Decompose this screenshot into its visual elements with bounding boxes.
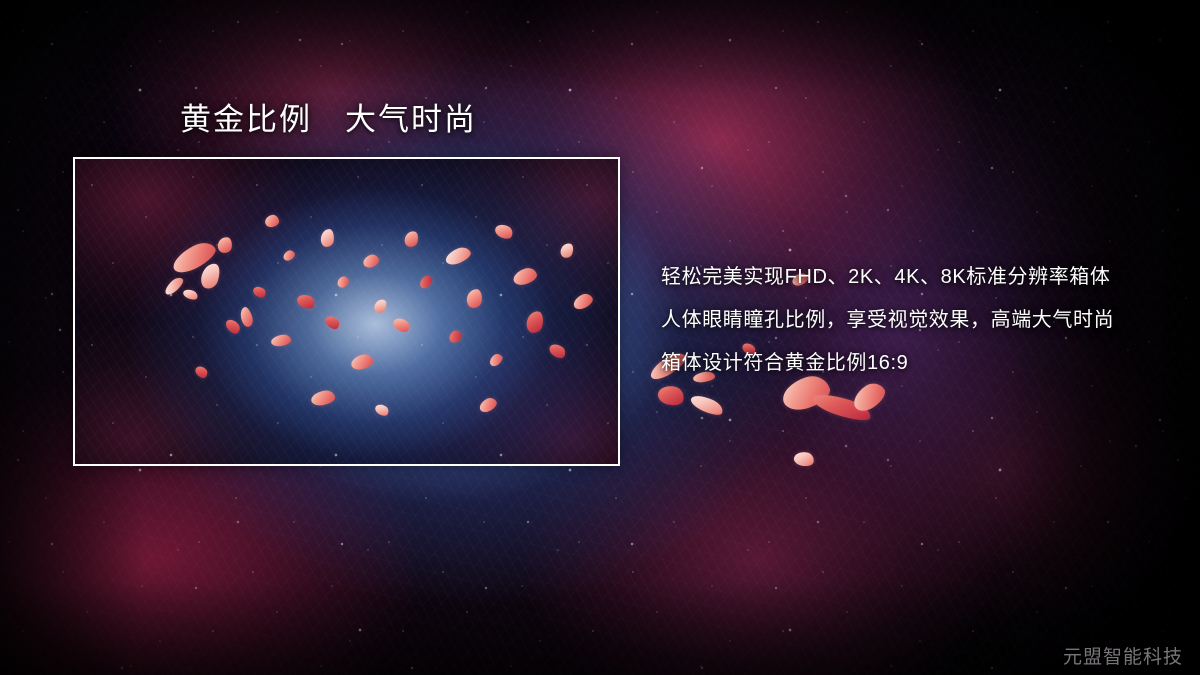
- presentation-slide: 黄金比例 大气时尚 轻松完美实现FHD、2K、4K、8K标准分辨率箱体 人体眼睛…: [0, 0, 1200, 675]
- body-copy-block: 轻松完美实现FHD、2K、4K、8K标准分辨率箱体 人体眼睛瞳孔比例，享受视觉效…: [661, 256, 1181, 385]
- body-line-2: 人体眼睛瞳孔比例，享受视觉效果，高端大气时尚: [661, 299, 1181, 342]
- body-line-1: 轻松完美实现FHD、2K、4K、8K标准分辨率箱体: [661, 256, 1181, 299]
- watermark: 元盟智能科技: [1063, 646, 1183, 670]
- slide-title: 黄金比例 大气时尚: [180, 101, 477, 139]
- framed-image-panel: [73, 157, 620, 466]
- body-line-3: 箱体设计符合黄金比例16:9: [661, 342, 1181, 385]
